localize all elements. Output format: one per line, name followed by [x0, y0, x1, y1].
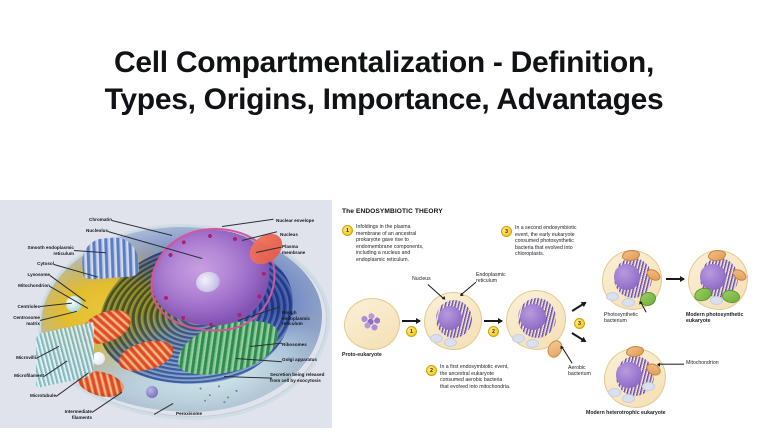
- step-text-1: Infoldings in the plasma membrane of an …: [356, 224, 474, 264]
- arrow-stage-2-to-3: [484, 320, 502, 322]
- structure-label-photosynthetic-bacterium: Photosynthetic bacterium: [604, 312, 650, 325]
- cell-label-exocytosis: Secretion being released from cell by ex…: [270, 372, 332, 383]
- cell-label-centrosome-matrix: Centrosome matrix: [2, 315, 40, 326]
- stage-label-proto-eukaryote: Proto-eukaryote: [342, 352, 412, 358]
- arrow-stage-1-to-2: [402, 320, 420, 322]
- step-text-2: In a first endosymbiotic event, the ance…: [440, 364, 564, 390]
- cell-label-centrioles: Centrioles: [4, 304, 40, 310]
- cell-label-nucleolus: Nucleolus: [60, 228, 108, 234]
- cell-label-microvilli: Microvilli: [2, 355, 36, 361]
- arrow-badge-2: 2: [488, 326, 499, 337]
- cell-label-peroxisome: Peroxisome: [176, 411, 220, 417]
- pointer-endoplasmic-reticulum: [460, 282, 476, 295]
- early-eukaryote-vacuole-a: [430, 334, 443, 343]
- photosynthetic-eukaryote-nucleus-shape: [614, 264, 640, 290]
- cell-label-mitochondrion: Mitochondrion: [4, 283, 50, 289]
- peroxisome-shape: [146, 386, 158, 398]
- animal-cell-illustration: Chromatin Nucleolus Smooth endoplasmic r…: [0, 200, 332, 428]
- leader-line-nuclear-envelope: [222, 219, 274, 227]
- structure-label-aerobic-bacterium: Aerobic bacterium: [568, 365, 604, 378]
- proto-eukaryote-chromatin-shape: [360, 313, 382, 333]
- arrow-badge-3: 3: [574, 318, 585, 329]
- cell-label-smooth-er: Smooth endoplasmic reticulum: [12, 245, 74, 256]
- stage-label-modern-photosynthetic-eukaryote: Modern photosynthetic eukaryote: [686, 312, 768, 325]
- modern-heterotrophic-vacuole-b: [622, 394, 635, 403]
- cell-label-lysosome: Lysosome: [12, 272, 50, 278]
- arrow-badge-1: 1: [406, 326, 417, 337]
- step-badge-1: 1: [342, 225, 353, 236]
- cell-label-nucleus: Nucleus: [280, 232, 320, 238]
- animal-cell-diagram: Chromatin Nucleolus Smooth endoplasmic r…: [0, 200, 332, 428]
- photosynthetic-eukaryote-vacuole-a: [606, 292, 619, 301]
- cell-label-plasma-membrane: Plasma membrane: [282, 244, 324, 255]
- cell-label-intermediate-filaments: Intermediate filaments: [44, 409, 92, 420]
- arrow-to-modern-photosynthetic: [666, 278, 684, 280]
- step-badge-2: 2: [426, 365, 437, 376]
- step-text-3: In a second endosymbiotic event, the ear…: [515, 225, 633, 258]
- pointer-aerobic-bacterium: [561, 346, 572, 363]
- endosymbiotic-theory-heading: The ENDOSYMBIOTIC THEORY: [342, 208, 443, 215]
- cell-label-golgi-apparatus: Golgi apparatus: [282, 357, 332, 363]
- page-title-line-1: Cell Compartmentalization - Definition,: [34, 44, 734, 81]
- modern-photosynthetic-vacuole: [710, 296, 723, 305]
- cell-label-ribosomes: Ribosomes: [282, 342, 326, 348]
- engulfing-eukaryote-nucleus-shape: [520, 304, 546, 330]
- cell-label-rough-er: Rough endoplasmic reticulum: [282, 310, 328, 327]
- exocytosis-secretion-shape: [196, 382, 242, 404]
- arrow-branch-down: [572, 332, 586, 342]
- photosynthetic-eukaryote-vacuole-b: [622, 298, 635, 307]
- cell-label-cytosol: Cytosol: [22, 261, 54, 267]
- modern-heterotrophic-vacuole-c: [642, 382, 655, 391]
- pointer-mitochondrion: [658, 364, 684, 365]
- engulfing-eukaryote-vacuole-a: [512, 334, 525, 343]
- structure-label-mitochondrion: Mitochondrion: [686, 360, 734, 366]
- page-root: Cell Compartmentalization - Definition, …: [0, 0, 768, 432]
- engulfing-eukaryote-vacuole-b: [526, 339, 539, 348]
- early-eukaryote-nucleus-shape: [438, 306, 462, 330]
- cell-label-microtubule: Microtubule: [16, 393, 56, 399]
- arrow-branch-up: [572, 302, 586, 312]
- page-title: Cell Compartmentalization - Definition, …: [0, 44, 768, 118]
- structure-label-nucleus: Nucleus: [412, 276, 446, 282]
- modern-heterotrophic-nucleus-shape: [616, 362, 642, 388]
- modern-photosynthetic-nucleus-shape: [700, 264, 726, 290]
- cell-label-nuclear-envelope: Nuclear envelope: [276, 218, 332, 224]
- structure-label-endoplasmic-reticulum: Endoplasmic reticulum: [476, 272, 520, 285]
- cell-label-chromatin: Chromatin: [62, 217, 112, 223]
- figure-row: Chromatin Nucleolus Smooth endoplasmic r…: [0, 200, 768, 432]
- early-eukaryote-vacuole-b: [444, 338, 457, 347]
- endosymbiotic-theory-diagram: The ENDOSYMBIOTIC THEORY 1 Infoldings in…: [336, 200, 768, 432]
- step-badge-3: 3: [501, 226, 512, 237]
- page-title-line-2: Types, Origins, Importance, Advantages: [34, 81, 734, 118]
- modern-heterotrophic-vacuole-a: [608, 388, 621, 397]
- cell-label-microfilament: Microfilament: [2, 373, 44, 379]
- stage-label-modern-heterotrophic-eukaryote: Modern heterotrophic eukaryote: [586, 410, 726, 416]
